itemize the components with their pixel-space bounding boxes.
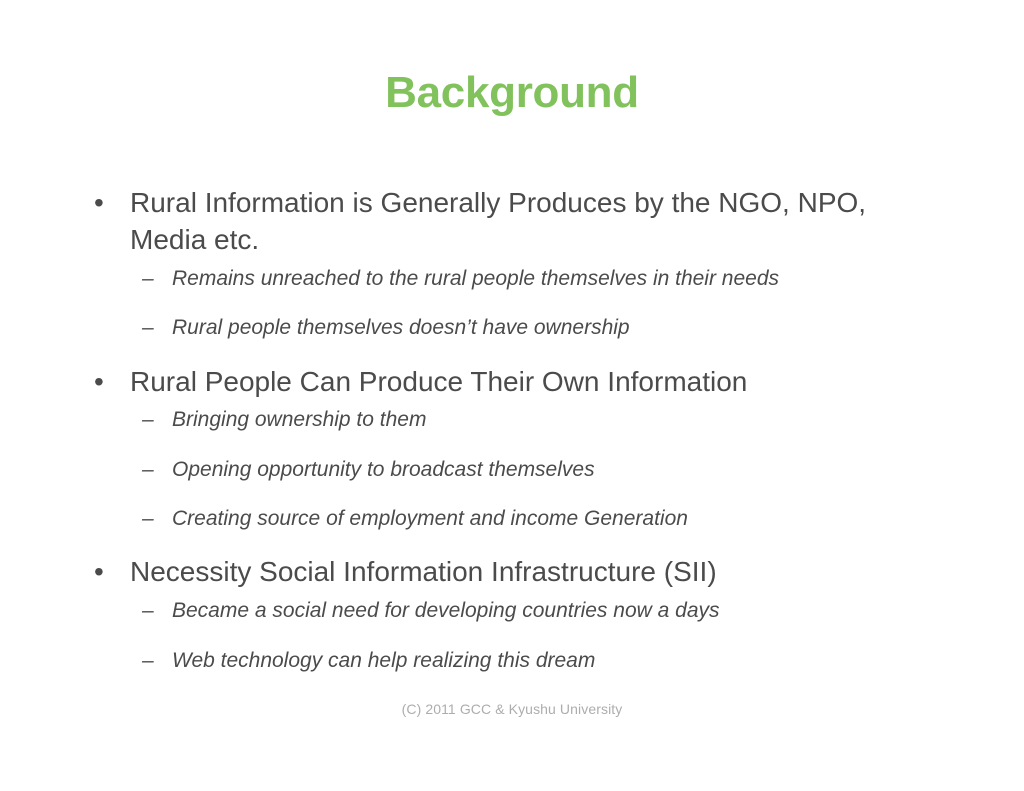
sub-bullet-text: Bringing ownership to them xyxy=(172,406,888,433)
sub-bullet-list: – Remains unreached to the rural people … xyxy=(88,265,888,342)
slide-title: Background xyxy=(0,70,1024,116)
sub-bullet-text: Web technology can help realizing this d… xyxy=(172,647,888,674)
bullet-text: Rural Information is Generally Produces … xyxy=(130,185,870,259)
sub-bullet-row: – Rural people themselves doesn’t have o… xyxy=(88,314,888,341)
bullet-text: Necessity Social Information Infrastruct… xyxy=(130,554,870,591)
bullet-marker-icon: • xyxy=(88,364,130,401)
sub-bullet-row: – Became a social need for developing co… xyxy=(88,597,888,624)
bullet-row: • Rural Information is Generally Produce… xyxy=(88,185,888,259)
group-spacer xyxy=(88,356,888,364)
sub-bullet-marker-icon: – xyxy=(88,647,172,674)
sub-bullet-text: Remains unreached to the rural people th… xyxy=(172,265,888,292)
sub-bullet-text: Rural people themselves doesn’t have own… xyxy=(172,314,888,341)
sub-bullet-marker-icon: – xyxy=(88,456,172,483)
sub-bullet-list: – Became a social need for developing co… xyxy=(88,597,888,674)
group-spacer xyxy=(88,546,888,554)
sub-bullet-marker-icon: – xyxy=(88,406,172,433)
sub-bullet-list: – Bringing ownership to them – Opening o… xyxy=(88,406,888,532)
bullet-marker-icon: • xyxy=(88,554,130,591)
slide: Background • Rural Information is Genera… xyxy=(0,0,1024,791)
bullet-text: Rural People Can Produce Their Own Infor… xyxy=(130,364,870,401)
sub-bullet-marker-icon: – xyxy=(88,314,172,341)
sub-bullet-row: – Web technology can help realizing this… xyxy=(88,647,888,674)
bullet-row: • Necessity Social Information Infrastru… xyxy=(88,554,888,591)
bullet-group: • Rural People Can Produce Their Own Inf… xyxy=(88,364,888,533)
sub-bullet-text: Became a social need for developing coun… xyxy=(172,597,888,624)
bullet-group: • Necessity Social Information Infrastru… xyxy=(88,554,888,674)
sub-bullet-text: Creating source of employment and income… xyxy=(172,505,888,532)
bullet-list: • Rural Information is Generally Produce… xyxy=(88,185,888,674)
sub-bullet-marker-icon: – xyxy=(88,505,172,532)
sub-bullet-row: – Creating source of employment and inco… xyxy=(88,505,888,532)
sub-bullet-row: – Opening opportunity to broadcast thems… xyxy=(88,456,888,483)
sub-bullet-row: – Bringing ownership to them xyxy=(88,406,888,433)
slide-footer: (C) 2011 GCC & Kyushu University xyxy=(0,701,1024,717)
sub-bullet-row: – Remains unreached to the rural people … xyxy=(88,265,888,292)
bullet-group: • Rural Information is Generally Produce… xyxy=(88,185,888,342)
slide-body: • Rural Information is Generally Produce… xyxy=(88,185,888,688)
sub-bullet-marker-icon: – xyxy=(88,597,172,624)
bullet-marker-icon: • xyxy=(88,185,130,222)
sub-bullet-marker-icon: – xyxy=(88,265,172,292)
bullet-row: • Rural People Can Produce Their Own Inf… xyxy=(88,364,888,401)
sub-bullet-text: Opening opportunity to broadcast themsel… xyxy=(172,456,888,483)
